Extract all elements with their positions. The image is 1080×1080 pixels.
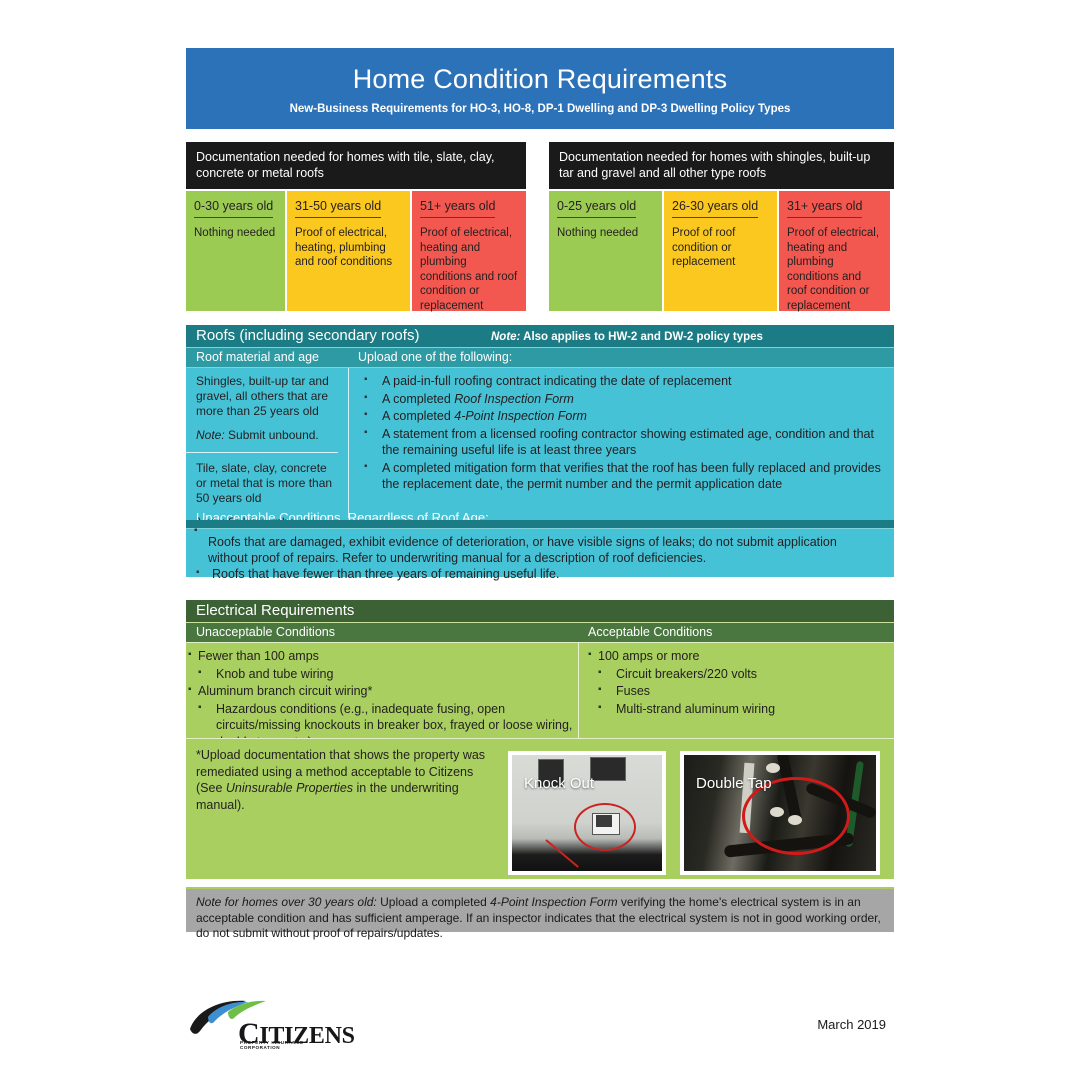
roofs-unacceptable-list: ▪ Roofs that are damaged, exhibit eviden… — [186, 528, 894, 577]
doc-table-tile-slate: Documentation needed for homes with tile… — [186, 142, 526, 311]
doc-table-heading: Documentation needed for homes with tile… — [186, 142, 526, 189]
doc-table-heading: Documentation needed for homes with shin… — [549, 142, 894, 189]
age-band-requirement: Nothing needed — [194, 226, 277, 241]
age-band-0-25: 0-25 years old Nothing needed — [549, 191, 662, 311]
list-item: Fewer than 100 amps — [186, 648, 578, 665]
document-page: Home Condition Requirements New-Business… — [0, 0, 1080, 1080]
photo-caption: Double Tap — [696, 775, 772, 793]
electrical-section-header: Electrical Requirements — [186, 600, 894, 622]
roofs-section: Roofs (including secondary roofs) Note: … — [186, 325, 894, 577]
list-item: Aluminum branch circuit wiring* — [186, 683, 578, 700]
divider — [186, 452, 338, 453]
list-item: Multi-strand aluminum wiring — [586, 701, 886, 718]
list-item: 100 amps or more — [586, 648, 886, 665]
unacceptable-conditions-header: Unacceptable Conditions — [196, 624, 335, 641]
roof-material-note: Note: Submit unbound. — [196, 428, 338, 443]
electrical-body: Fewer than 100 amps Knob and tube wiring… — [186, 642, 894, 738]
acceptable-conditions-header: Acceptable Conditions — [588, 624, 712, 641]
age-band-label: 31+ years old — [787, 198, 862, 218]
age-band-label: 0-25 years old — [557, 198, 636, 218]
note-label: Note: — [196, 428, 225, 442]
roofs-col2-header: Upload one of the following: — [358, 349, 512, 366]
photo-double-tap: Double Tap — [680, 751, 880, 875]
bottom-note: Note for homes over 30 years old: Upload… — [186, 887, 894, 932]
page-footer: CITIZENS PROPERTY INSURANCE CORPORATION … — [186, 995, 894, 1050]
bottom-note-label: Note for homes over 30 years old: — [196, 895, 377, 909]
list-item: A completed mitigation form that verifie… — [356, 460, 886, 493]
list-item-text: A completed mitigation form that verifie… — [382, 461, 881, 492]
age-band-label: 0-30 years old — [194, 198, 273, 218]
roofs-policy-note: Note: Also applies to HW-2 and DW-2 poli… — [491, 329, 763, 345]
photo-inner: Double Tap — [684, 755, 876, 871]
electrical-title: Electrical Requirements — [196, 602, 354, 620]
roofs-column-headers: Roof material and age Upload one of the … — [186, 347, 894, 367]
list-item: A completed Roof Inspection Form — [356, 391, 886, 408]
note-text: Submit unbound. — [225, 428, 319, 442]
age-band-requirement: Proof of roof condition or replacement — [672, 226, 769, 270]
footer-date: March 2019 — [817, 1017, 886, 1032]
electrical-section: Electrical Requirements Unacceptable Con… — [186, 600, 894, 879]
age-band-label: 31-50 years old — [295, 198, 381, 218]
age-band-0-30: 0-30 years old Nothing needed — [186, 191, 285, 311]
citizens-tagline: PROPERTY INSURANCE CORPORATION — [240, 1040, 326, 1050]
panel-label — [590, 757, 626, 781]
age-band-requirement: Proof of electrical, heating and plumbin… — [420, 226, 518, 313]
page-title: Home Condition Requirements — [186, 62, 894, 96]
roofs-body: Shingles, built-up tar and gravel, all o… — [186, 367, 894, 528]
terminal-screw — [766, 763, 780, 773]
footnote-emphasis: Uninsurable Properties — [226, 781, 353, 795]
roofs-col1-header: Roof material and age — [196, 349, 319, 366]
photo-inner: Knock Out — [512, 755, 662, 871]
roof-upload-options: A paid-in-full roofing contract indicati… — [356, 373, 886, 494]
roofs-title: Roofs (including secondary roofs) — [196, 327, 419, 345]
list-item-text: A completed — [382, 409, 454, 423]
age-band-31-plus: 31+ years old Proof of electrical, heati… — [779, 191, 890, 311]
red-circle-annotation — [574, 803, 636, 851]
age-band-26-30: 26-30 years old Proof of roof condition … — [664, 191, 777, 311]
photo-knock-out: Knock Out — [508, 751, 666, 875]
list-item: Circuit breakers/220 volts — [586, 666, 886, 683]
list-item-text: A paid-in-full roofing contract indicati… — [382, 374, 732, 388]
bullet-icon: ▪ — [194, 525, 198, 536]
list-item-text: A completed — [382, 392, 454, 406]
bottom-note-text: Upload a completed — [377, 895, 490, 909]
bottom-note-emphasis: 4-Point Inspection Form — [490, 895, 617, 909]
acceptable-conditions-list: 100 amps or more Circuit breakers/220 vo… — [586, 648, 886, 718]
unacceptable-conditions-list: Fewer than 100 amps Knob and tube wiring… — [186, 648, 578, 751]
column-divider — [578, 643, 579, 738]
roof-material-item: Tile, slate, clay, concrete or metal tha… — [196, 461, 338, 506]
age-band-31-50: 31-50 years old Proof of electrical, hea… — [287, 191, 410, 311]
age-band-label: 51+ years old — [420, 198, 495, 218]
list-item: A statement from a licensed roofing cont… — [356, 426, 886, 459]
age-band-51-plus: 51+ years old Proof of electrical, heati… — [412, 191, 526, 311]
age-band-requirement: Proof of electrical, heating and plumbin… — [787, 226, 882, 313]
column-divider — [348, 368, 349, 518]
doc-table-shingles: Documentation needed for homes with shin… — [549, 142, 894, 311]
list-item: A paid-in-full roofing contract indicati… — [356, 373, 886, 390]
roofs-section-header: Roofs (including secondary roofs) Note: … — [186, 325, 894, 347]
list-item-text: A statement from a licensed roofing cont… — [382, 427, 874, 458]
electrical-footnote-area: *Upload documentation that shows the pro… — [186, 738, 894, 879]
list-item-emphasis: 4-Point Inspection Form — [454, 409, 587, 423]
electrical-footnote: *Upload documentation that shows the pro… — [196, 747, 496, 813]
age-band-requirement: Nothing needed — [557, 226, 654, 241]
age-band-label: 26-30 years old — [672, 198, 758, 218]
list-item: Knob and tube wiring — [186, 666, 578, 683]
page-subtitle: New-Business Requirements for HO-3, HO-8… — [186, 102, 894, 116]
documentation-tables: Documentation needed for homes with tile… — [186, 142, 894, 312]
photo-caption: Knock Out — [524, 775, 594, 793]
citizens-logo: CITIZENS PROPERTY INSURANCE CORPORATION — [186, 995, 326, 1047]
page-header: Home Condition Requirements New-Business… — [186, 48, 894, 129]
list-item-emphasis: Roof Inspection Form — [454, 392, 574, 406]
age-band-requirement: Proof of electrical, heating, plumbing a… — [295, 226, 402, 270]
list-item: A completed 4-Point Inspection Form — [356, 408, 886, 425]
list-item: Roofs that are damaged, exhibit evidence… — [208, 534, 878, 566]
roofs-note-text: Also applies to HW-2 and DW-2 policy typ… — [520, 331, 763, 343]
roof-material-item: Shingles, built-up tar and gravel, all o… — [196, 374, 338, 419]
roofs-note-label: Note: — [491, 331, 520, 343]
list-item: Roofs that have fewer than three years o… — [186, 566, 559, 582]
list-item: Fuses — [586, 683, 886, 700]
electrical-column-headers: Unacceptable Conditions Acceptable Condi… — [186, 622, 894, 642]
